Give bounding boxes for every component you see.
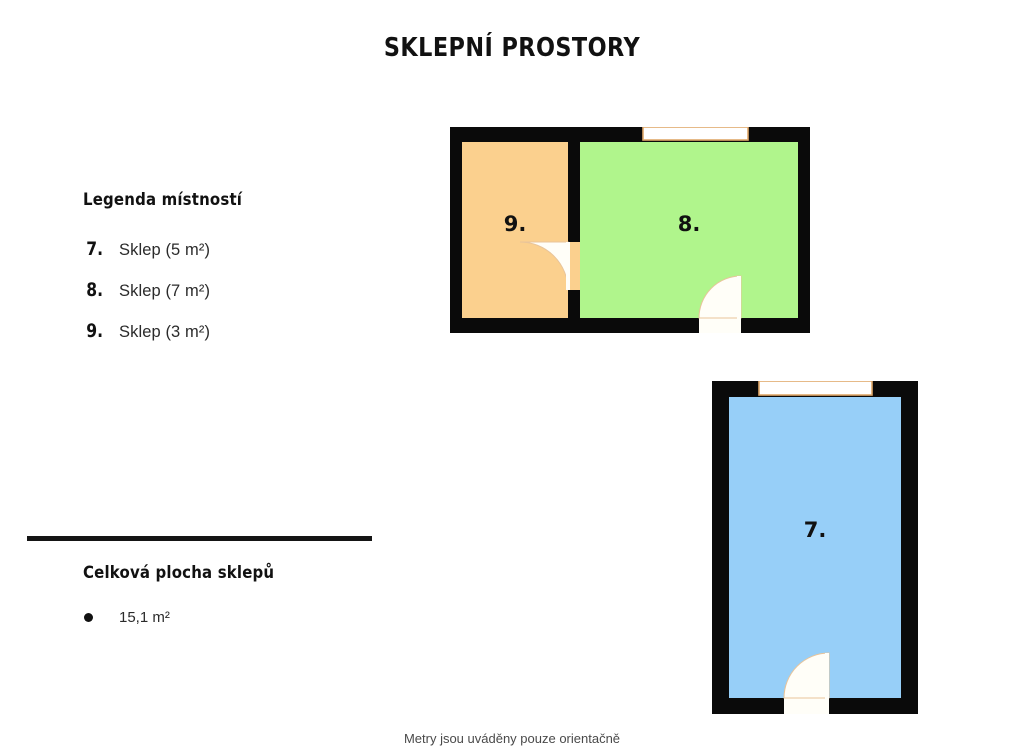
door-opening-8-exit <box>699 318 741 333</box>
door-leaf-8-exit <box>737 276 741 320</box>
total-area-section: Celková plocha sklepů 15,1 m² <box>83 563 403 626</box>
bullet-icon <box>84 613 93 622</box>
legend-heading: Legenda místností <box>83 190 347 210</box>
room-7-label: 7. <box>804 518 827 542</box>
legend-item-number: 9. <box>86 320 116 342</box>
floorplan-page: SKLEPNÍ PROSTORY Legenda místností 7. Sk… <box>0 0 1024 749</box>
floorplan-lower: 7. <box>712 381 918 714</box>
room-legend: Legenda místností 7. Sklep (5 m²) 8. Skl… <box>83 190 383 361</box>
page-title: SKLEPNÍ PROSTORY <box>72 33 953 63</box>
total-area-row: 15,1 m² <box>83 609 403 626</box>
floorplan-upper: 9. 8. <box>450 127 810 333</box>
door-opening-7-exit <box>784 698 829 714</box>
legend-item-number: 7. <box>86 238 116 260</box>
total-area-heading: Celková plocha sklepů <box>83 563 365 583</box>
room-9-label: 9. <box>504 212 527 236</box>
room-8-label: 8. <box>678 212 701 236</box>
footnote: Metry jsou uváděny pouze orientačně <box>0 731 1024 746</box>
legend-item-label: Sklep (7 m²) <box>119 282 210 301</box>
door-leaf-7-exit <box>825 653 829 700</box>
window-glass <box>759 381 872 395</box>
legend-item-8: 8. Sklep (7 m²) <box>83 279 383 301</box>
section-divider <box>27 536 372 541</box>
window-glass <box>643 127 748 140</box>
legend-item-label: Sklep (3 m²) <box>119 323 210 342</box>
room-7-fill <box>729 397 901 698</box>
legend-item-label: Sklep (5 m²) <box>119 241 210 260</box>
door-leaf-9-8 <box>566 242 570 290</box>
legend-item-7: 7. Sklep (5 m²) <box>83 238 383 260</box>
total-area-value: 15,1 m² <box>119 609 170 626</box>
legend-item-number: 8. <box>86 279 116 301</box>
legend-item-9: 9. Sklep (3 m²) <box>83 320 383 342</box>
